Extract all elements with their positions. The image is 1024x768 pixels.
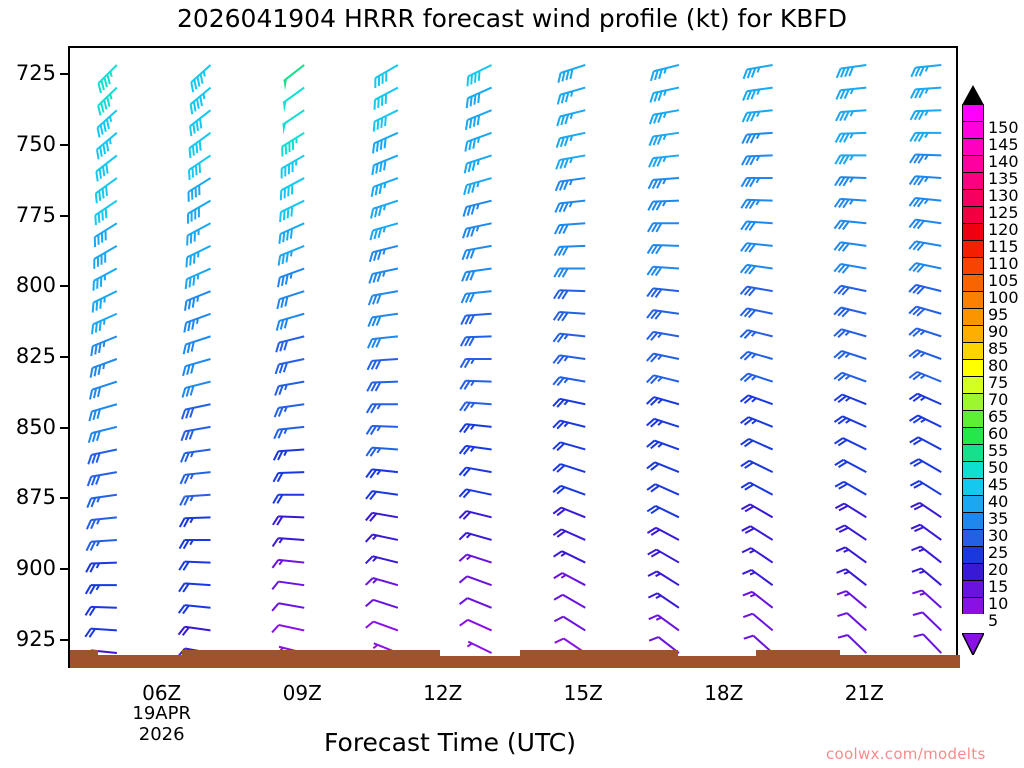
y-axis-tick-label: 900: [0, 558, 56, 579]
colorbar-tick-label: 50: [988, 460, 1008, 476]
colorbar-swatch: [962, 308, 984, 325]
colorbar-tick-label: 115: [988, 239, 1019, 255]
colorbar-swatch: [962, 172, 984, 189]
colorbar-tick-label: 130: [988, 188, 1019, 204]
colorbar-swatch: [962, 461, 984, 478]
colorbar-swatch: [962, 155, 984, 172]
colorbar-swatch: [962, 206, 984, 223]
colorbar-top-arrow-icon: [962, 85, 984, 105]
colorbar-swatch: [962, 138, 984, 155]
colorbar-tick-label: 40: [988, 494, 1008, 510]
x-axis-tick-label: 12Z: [403, 681, 483, 705]
colorbar-swatches: 1501451401351301251201151101051009590858…: [962, 104, 984, 614]
x-axis-tick-label: 09Z: [262, 681, 342, 705]
colorbar-tick-label: 45: [988, 477, 1008, 493]
colorbar-swatch: [962, 410, 984, 427]
colorbar-swatch: [962, 546, 984, 563]
x-axis-title: Forecast Time (UTC): [0, 728, 900, 757]
colorbar-tick-label: 145: [988, 137, 1019, 153]
colorbar-tick-label: 150: [988, 120, 1019, 136]
y-axis-tick-label: 925: [0, 629, 56, 650]
colorbar-tick-label: 70: [988, 392, 1008, 408]
colorbar-tick-label: 15: [988, 579, 1008, 595]
y-axis-tick-label: 775: [0, 205, 56, 226]
colorbar-swatch: [962, 257, 984, 274]
colorbar-tick-label: 85: [988, 341, 1008, 357]
y-axis-tick-label: 850: [0, 417, 56, 438]
y-axis-tick-mark: [60, 144, 69, 146]
terrain-segment: [756, 650, 840, 668]
colorbar-tick-label: 140: [988, 154, 1019, 170]
colorbar-tick-label: 110: [988, 256, 1019, 272]
colorbar-tick-label: 25: [988, 545, 1008, 561]
colorbar-swatch: [962, 240, 984, 257]
colorbar-swatch: [962, 478, 984, 495]
colorbar-tick-label: 55: [988, 443, 1008, 459]
colorbar-swatch: [962, 444, 984, 461]
y-axis-tick-mark: [60, 73, 69, 75]
colorbar-tick-label: 135: [988, 171, 1019, 187]
colorbar-tick-label: 95: [988, 307, 1008, 323]
terrain-segment: [678, 656, 756, 668]
terrain-segment: [840, 655, 960, 668]
colorbar-swatch: [962, 563, 984, 580]
colorbar-swatch: [962, 529, 984, 546]
colorbar-tick-label: 10: [988, 596, 1008, 612]
colorbar-swatch: [962, 189, 984, 206]
terrain-segment: [70, 650, 98, 668]
colorbar-tick-label: 90: [988, 324, 1008, 340]
colorbar-tick-label: 60: [988, 426, 1008, 442]
x-axis-date-line: 19APR: [102, 703, 222, 724]
colorbar-legend: 1501451401351301251201151101051009590858…: [962, 86, 1024, 646]
colorbar-swatch: [962, 325, 984, 342]
colorbar-tick-label: 100: [988, 290, 1019, 306]
colorbar-tick-label: 30: [988, 528, 1008, 544]
colorbar-tick-label: 125: [988, 205, 1019, 221]
terrain-segment: [520, 650, 678, 668]
colorbar-swatch: [962, 427, 984, 444]
y-axis-tick-mark: [60, 568, 69, 570]
x-axis-tick-label: 15Z: [543, 681, 623, 705]
colorbar-swatch: [962, 121, 984, 138]
x-axis-tick-label: 06Z: [122, 681, 202, 705]
colorbar-tick-label: 5: [988, 613, 998, 629]
x-axis-tick-label: 21Z: [824, 681, 904, 705]
colorbar-swatch: [962, 342, 984, 359]
terrain-segment: [98, 655, 182, 668]
colorbar-swatch: [962, 223, 984, 240]
y-axis-tick-label: 875: [0, 487, 56, 508]
colorbar-tick-label: 105: [988, 273, 1019, 289]
terrain-segment: [440, 656, 520, 668]
colorbar-swatch: [962, 597, 984, 614]
colorbar-tick-label: 65: [988, 409, 1008, 425]
colorbar-tick-label: 35: [988, 511, 1008, 527]
colorbar-tick-label: 75: [988, 375, 1008, 391]
y-axis-tick-label: 825: [0, 346, 56, 367]
colorbar-swatch: [962, 359, 984, 376]
colorbar-swatch: [962, 376, 984, 393]
colorbar-tick-label: 20: [988, 562, 1008, 578]
colorbar-swatch: [962, 512, 984, 529]
colorbar-tick-label: 120: [988, 222, 1019, 238]
colorbar-swatch: [962, 274, 984, 291]
y-axis-tick-mark: [60, 497, 69, 499]
y-axis-tick-mark: [60, 356, 69, 358]
y-axis-tick-label: 750: [0, 134, 56, 155]
watermark: coolwx.com/modelts: [826, 745, 986, 763]
y-axis-tick-label: 725: [0, 63, 56, 84]
plot-area: [68, 46, 958, 668]
y-axis-tick-mark: [60, 639, 69, 641]
y-axis-tick-mark: [60, 215, 69, 217]
y-axis-tick-label: 800: [0, 275, 56, 296]
wind-profile-chart: 2026041904 HRRR forecast wind profile (k…: [0, 0, 1024, 768]
terrain-profile: [70, 48, 960, 670]
colorbar-swatch: [962, 495, 984, 512]
page-title: 2026041904 HRRR forecast wind profile (k…: [0, 4, 1024, 33]
x-axis-tick-label: 18Z: [684, 681, 764, 705]
terrain-segment: [182, 650, 440, 668]
y-axis-tick-mark: [60, 427, 69, 429]
colorbar-bottom-arrow-icon: [962, 633, 984, 655]
colorbar-swatch: [962, 104, 984, 121]
colorbar-swatch: [962, 580, 984, 597]
colorbar-swatch: [962, 393, 984, 410]
colorbar-tick-label: 80: [988, 358, 1008, 374]
colorbar-swatch: [962, 291, 984, 308]
y-axis-tick-mark: [60, 285, 69, 287]
